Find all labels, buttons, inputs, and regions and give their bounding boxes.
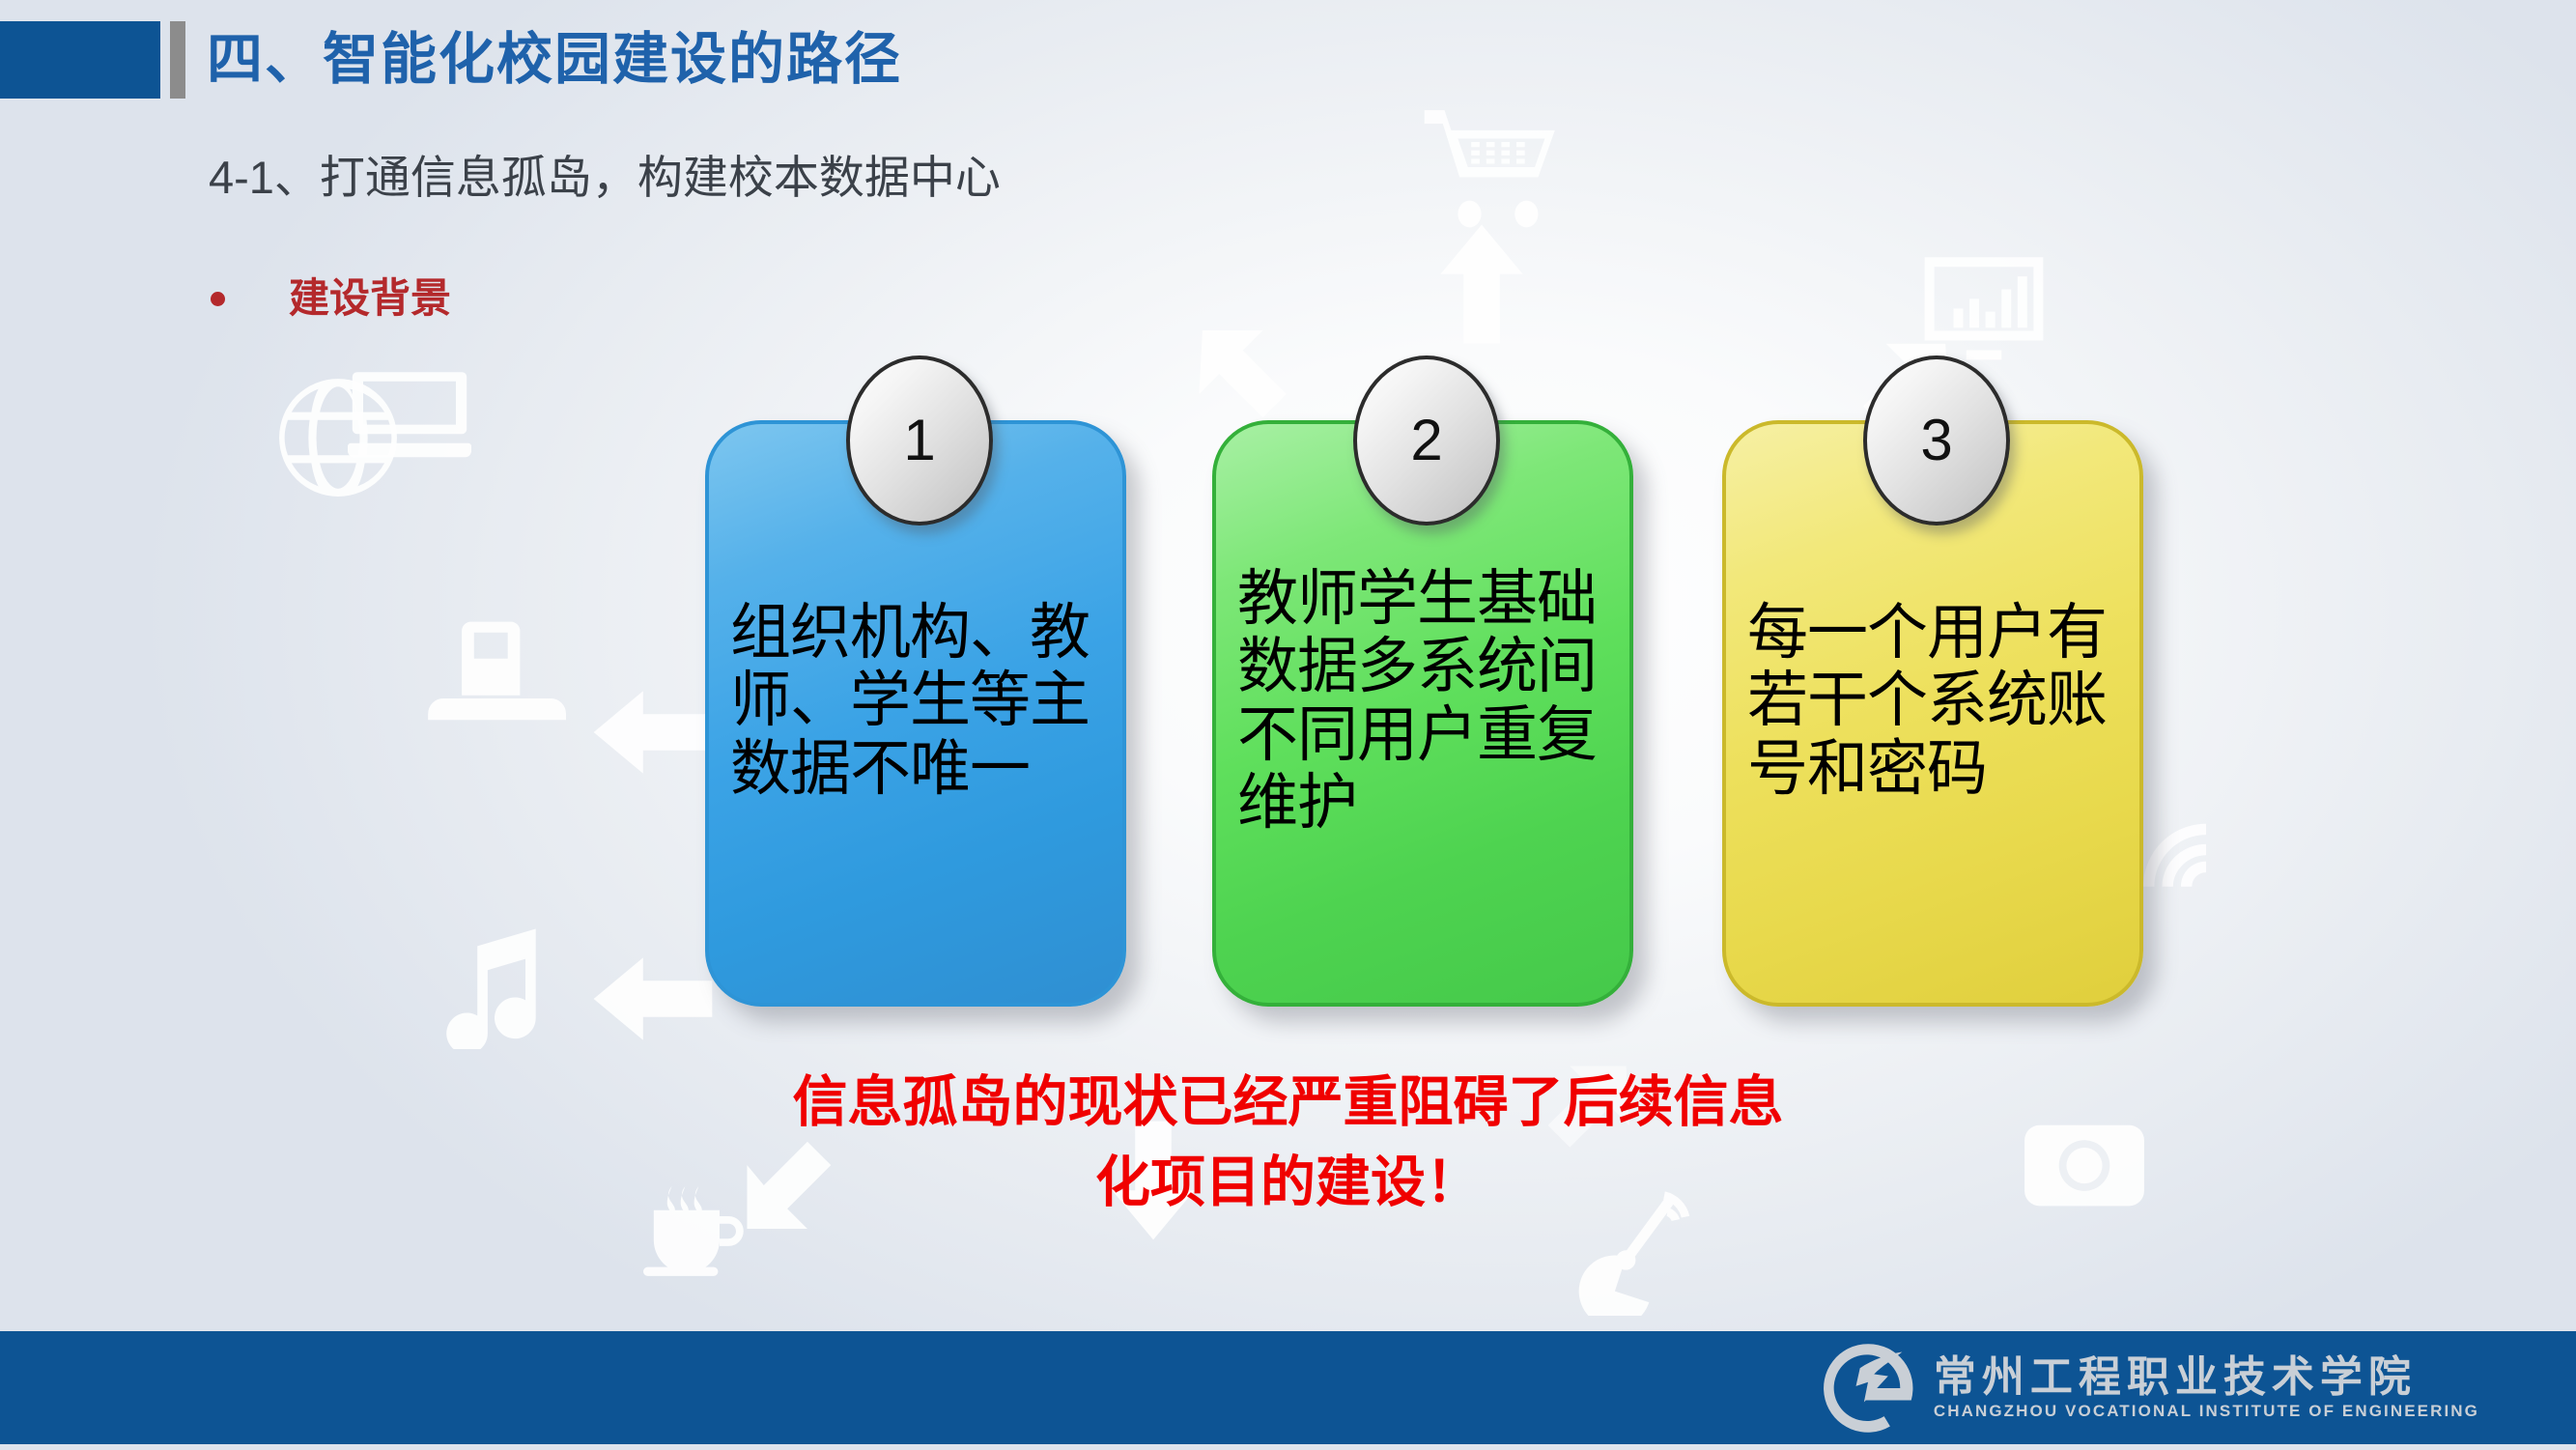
- globe-icon: [275, 375, 401, 500]
- mobile-phone-icon: [425, 618, 566, 726]
- issue-card-3-number-badge: 3: [1863, 355, 2010, 526]
- conclusion-line-1: 信息孤岛的现状已经严重阻碍了后续信息: [0, 1063, 2576, 1143]
- page-subtitle: 4-1、打通信息孤岛，构建校本数据中心: [209, 155, 1001, 200]
- issue-card-1-text: 组织机构、教师、学生等主数据不唯一: [730, 599, 1109, 803]
- institution-logo-text: 常州工程职业技术学院 CHANGZHOU VOCATIONAL INSTITUT…: [1934, 1356, 2479, 1419]
- wifi-icon: [2139, 814, 2222, 890]
- issue-card-1-number-badge: 1: [846, 355, 993, 526]
- page-title: 四、智能化校园建设的路径: [207, 21, 902, 99]
- issue-card-3-text: 每一个用户有若干个系统账号和密码: [1747, 599, 2126, 803]
- footer-bar: 常州工程职业技术学院 CHANGZHOU VOCATIONAL INSTITUT…: [0, 1331, 2576, 1444]
- issue-card-2-text: 教师学生基础数据多系统间不同用户重复维护: [1237, 565, 1616, 837]
- bullet-row: 建设背景: [211, 278, 451, 319]
- bar-chart-monitor-icon: [1918, 253, 2050, 367]
- header-accent-bar: [170, 21, 185, 99]
- institution-logo-mark-icon: [1818, 1338, 1918, 1438]
- conclusion-text: 信息孤岛的现状已经严重阻碍了后续信息 化项目的建设！: [0, 1063, 2576, 1222]
- arrow-left-icon: [593, 954, 713, 1043]
- arrow-up-left-icon: [1196, 327, 1310, 435]
- institution-name-cn: 常州工程职业技术学院: [1934, 1356, 2479, 1399]
- desktop-computer-icon: [348, 365, 471, 466]
- institution-logo: 常州工程职业技术学院 CHANGZHOU VOCATIONAL INSTITUT…: [1818, 1338, 2479, 1438]
- issue-card-2-number-badge: 2: [1353, 355, 1500, 526]
- bullet-label: 建设背景: [289, 278, 451, 319]
- arrow-up-icon: [1437, 224, 1526, 344]
- header-accent-block: [0, 21, 160, 99]
- bullet-dot-icon: [211, 292, 225, 306]
- institution-name-en: CHANGZHOU VOCATIONAL INSTITUTE OF ENGINE…: [1934, 1403, 2479, 1419]
- music-note-icon: [439, 925, 550, 1049]
- shopping-cart-icon: [1423, 106, 1560, 228]
- arrow-left-icon: [593, 688, 713, 777]
- conclusion-line-2: 化项目的建设！: [0, 1143, 2576, 1223]
